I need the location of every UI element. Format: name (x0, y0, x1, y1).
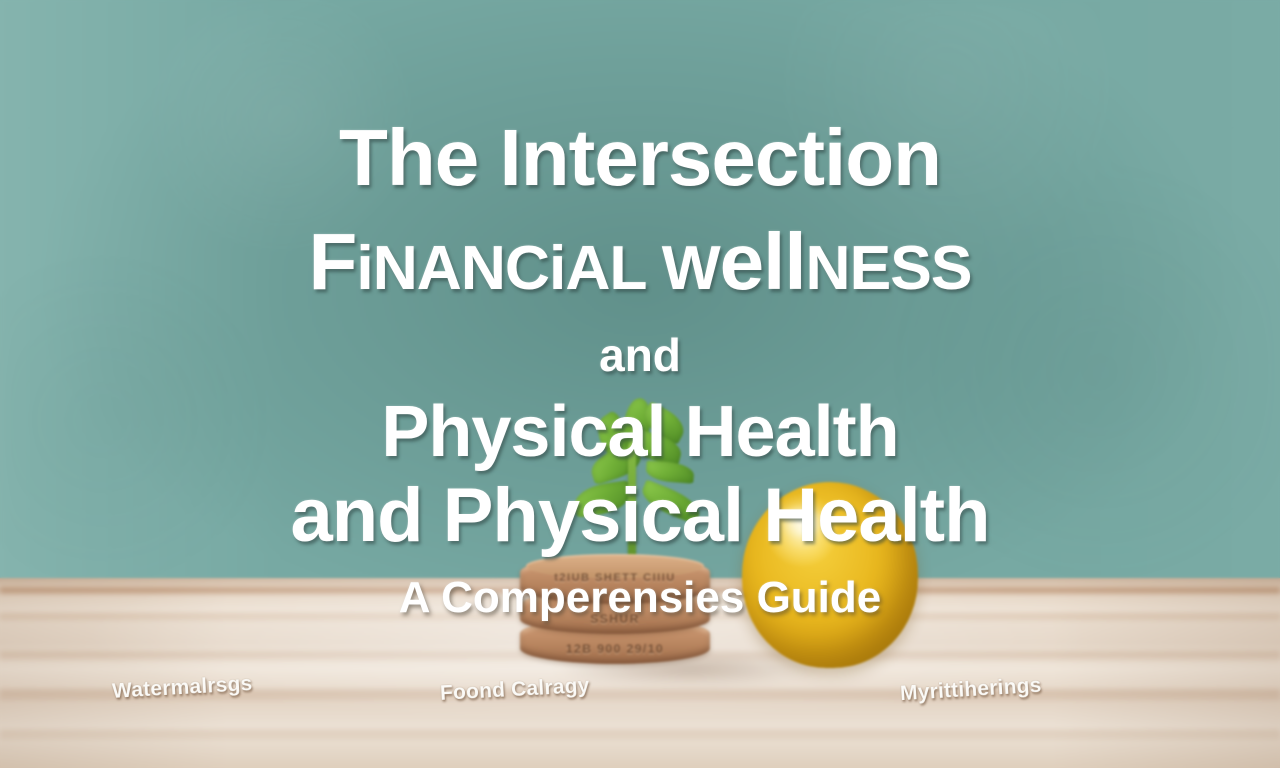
title-line-2-seg-e: AL W (565, 234, 719, 303)
title-line-4: Physical Health (0, 396, 1280, 468)
title-line-3: and (0, 332, 1280, 378)
title-line-2-seg-g: NESS (806, 234, 972, 303)
title-line-2-seg-f: ell (720, 217, 806, 306)
title-block: The Intersection FiNANCiAL WellNESS and … (0, 0, 1280, 768)
title-line-2-seg-c: NANC (373, 234, 549, 303)
title-line-2: FiNANCiAL WellNESS (0, 222, 1280, 302)
title-line-2-seg-a: F (309, 217, 357, 306)
poster-subtitle: A Comperensies Guide (0, 576, 1280, 620)
title-line-2-seg-b: i (356, 234, 372, 303)
title-line-1: The Intersection (0, 118, 1280, 198)
title-line-5: and Physical Health (0, 478, 1280, 554)
poster-canvas: 12B 900 29/10 SSHUR t2IUB SHETT CIIIU Th… (0, 0, 1280, 768)
title-line-2-seg-d: i (549, 234, 565, 303)
